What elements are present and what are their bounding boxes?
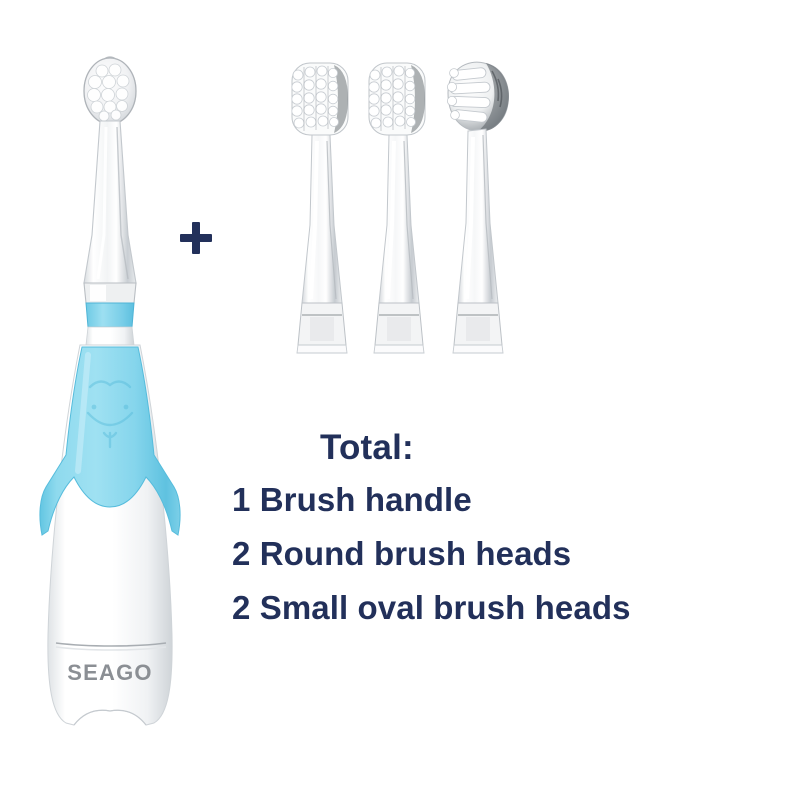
contents-summary: Total: 1 Brush handle 2 Round brush head…: [232, 430, 752, 624]
handle-neck: [84, 121, 136, 283]
head-neck-3: [458, 129, 498, 303]
plus-icon: [178, 220, 214, 256]
head-neck-1: [302, 135, 342, 303]
head-neck-2: [379, 135, 419, 303]
round-bristle-field-3: [447, 62, 509, 131]
plus-icon-vertical-bar: [192, 222, 200, 254]
total-label: Total:: [232, 430, 752, 465]
product-composition-image: SEAGO: [0, 0, 800, 800]
oval-bristle-field-1: [292, 63, 348, 135]
spec-line-round-brush-heads: 2 Round brush heads: [232, 537, 752, 570]
spec-line-small-oval-brush-heads: 2 Small oval brush heads: [232, 591, 752, 624]
brand-logo-text: SEAGO: [67, 660, 152, 685]
spec-line-brush-handle: 1 Brush handle: [232, 483, 752, 516]
handle-brush-head: [84, 57, 136, 124]
handle-shoulder: [86, 327, 134, 345]
handle-collar-ring: [86, 303, 134, 327]
oval-bristle-field-2: [369, 63, 425, 135]
replacement-head-3: [422, 45, 534, 365]
toothbrush-handle-illustration: SEAGO: [18, 35, 218, 735]
